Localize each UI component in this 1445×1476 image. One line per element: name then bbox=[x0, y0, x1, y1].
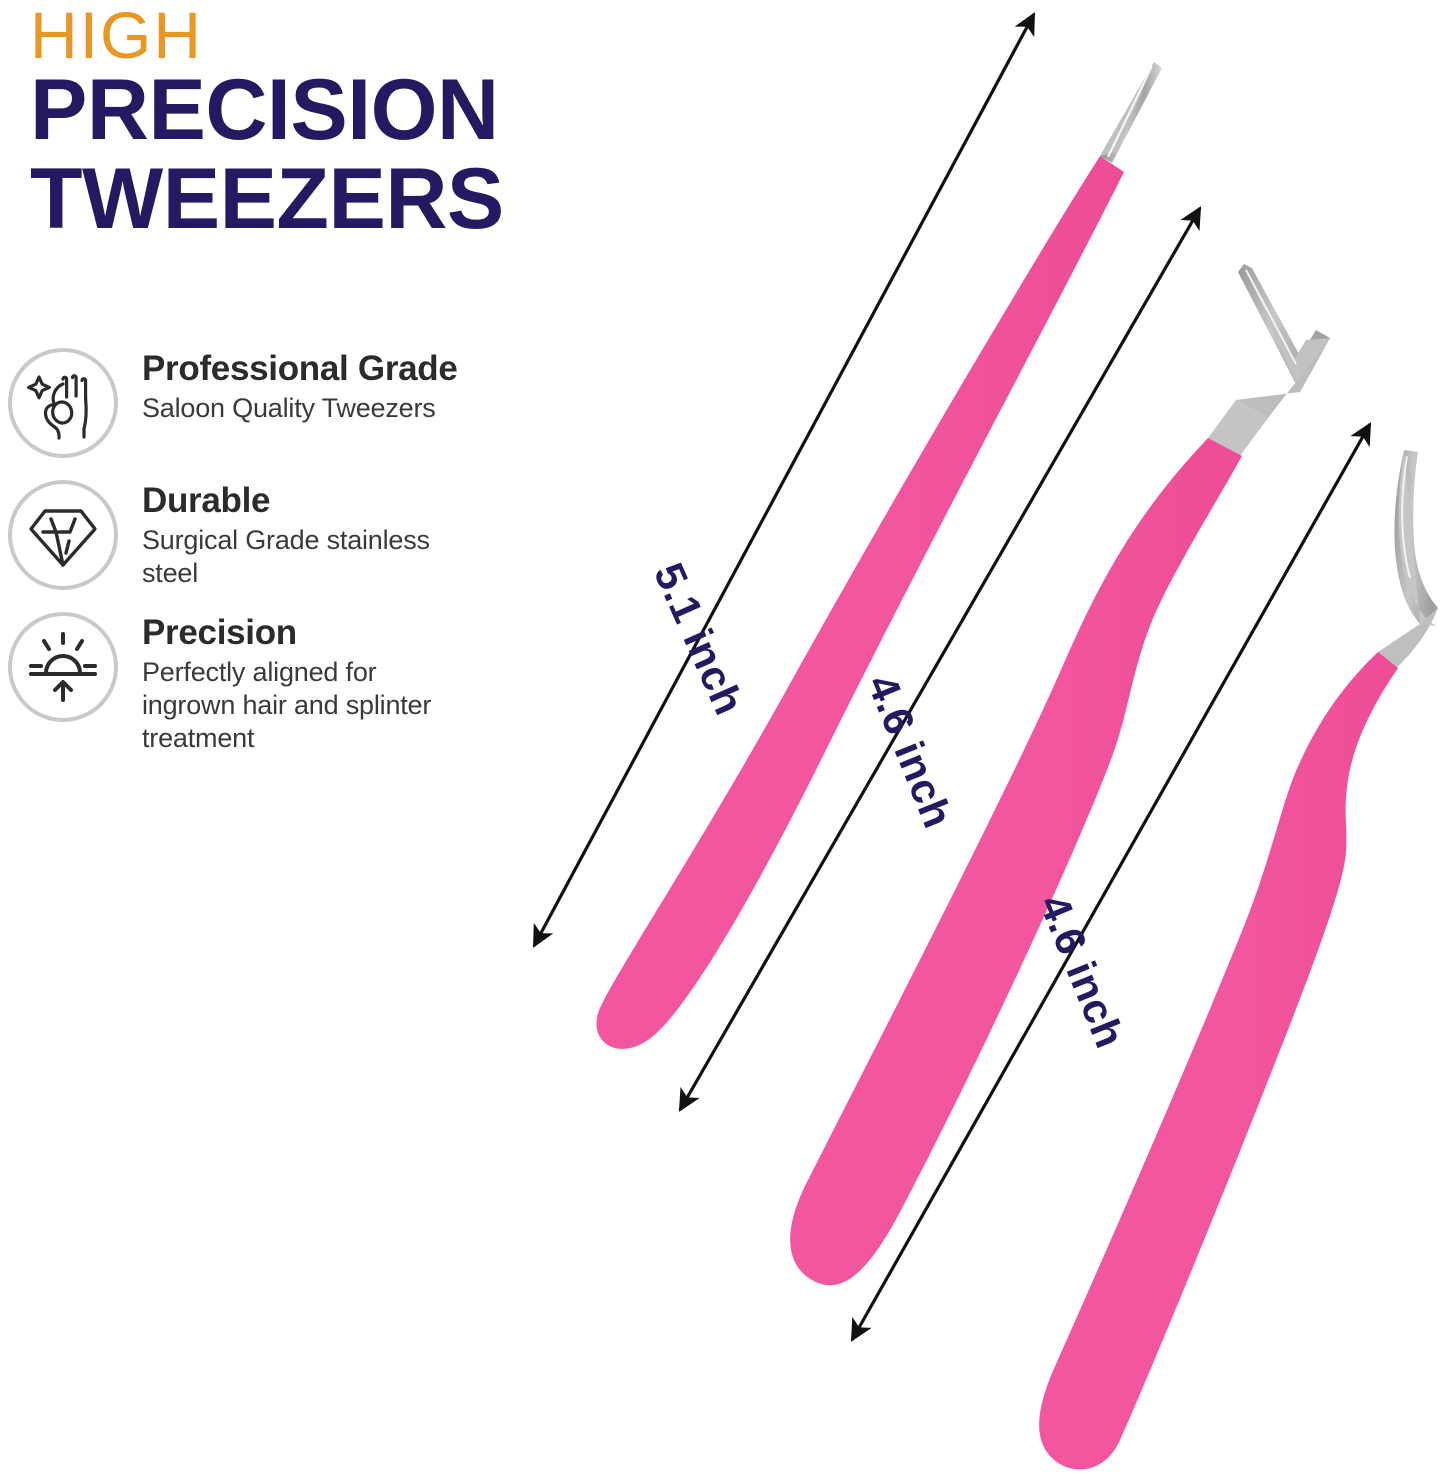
feature-item-professional-grade: Professional Grade Saloon Quality Tweeze… bbox=[8, 348, 458, 458]
page-title: HIGH PRECISION TWEEZERS bbox=[30, 4, 710, 243]
feature-subtitle: Surgical Grade stainless steel bbox=[142, 524, 458, 590]
feature-list: Professional Grade Saloon Quality Tweeze… bbox=[8, 348, 458, 777]
feature-title: Precision bbox=[142, 614, 458, 652]
feature-item-durable: Durable Surgical Grade stainless steel bbox=[8, 480, 458, 590]
angled-tip-tweezer bbox=[790, 264, 1330, 1285]
dimension-line-4-6-inch-upper bbox=[680, 208, 1200, 1110]
feature-item-precision: Precision Perfectly aligned for ingrown … bbox=[8, 612, 458, 755]
diamond-icon bbox=[8, 480, 118, 590]
feature-title: Professional Grade bbox=[142, 350, 458, 388]
sunrise-arrow-icon bbox=[8, 612, 118, 722]
feature-title: Durable bbox=[142, 482, 458, 520]
title-line-precision: PRECISION bbox=[30, 66, 710, 155]
feature-text-precision: Precision Perfectly aligned for ingrown … bbox=[118, 612, 458, 755]
dimension-line-4-6-inch-lower bbox=[852, 424, 1370, 1340]
product-infographic: HIGH PRECISION TWEEZERS bbox=[0, 0, 1445, 1476]
feature-text-professional-grade: Professional Grade Saloon Quality Tweeze… bbox=[118, 348, 458, 425]
title-line-high: HIGH bbox=[30, 4, 710, 66]
ok-hand-sparkle-icon bbox=[8, 348, 118, 458]
dimension-label-tweezer-3: 4.6 inch bbox=[1029, 888, 1134, 1055]
feature-subtitle: Saloon Quality Tweezers bbox=[142, 392, 458, 425]
feature-subtitle: Perfectly aligned for ingrown hair and s… bbox=[142, 656, 458, 755]
title-line-tweezers: TWEEZERS bbox=[30, 155, 710, 244]
dimension-label-tweezer-1: 5.1 inch bbox=[644, 556, 753, 722]
feature-text-durable: Durable Surgical Grade stainless steel bbox=[118, 480, 458, 590]
dimension-label-tweezer-2: 4.6 inch bbox=[857, 668, 962, 835]
